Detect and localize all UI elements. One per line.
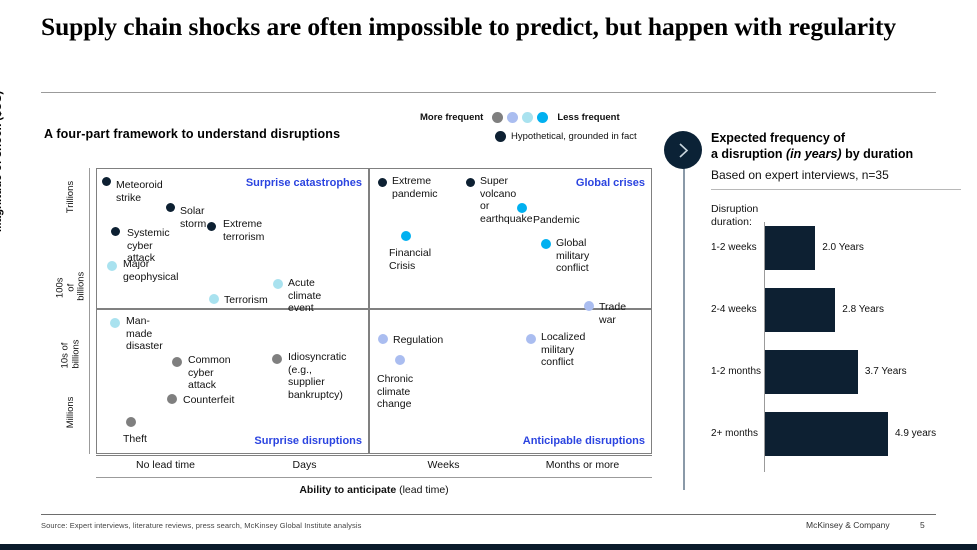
scatter-dot [102, 177, 111, 186]
legend-dot-blue [537, 112, 548, 123]
y-axis-line [89, 168, 90, 454]
scatter-point-label: Chronic climate change [377, 373, 413, 411]
scatter-point-label: Financial Crisis [389, 247, 431, 272]
scatter-dot [172, 357, 182, 367]
scatter-dot [209, 294, 219, 304]
scatter-dot [466, 178, 475, 187]
right-panel-subtitle: Based on expert interviews, n=35 [711, 168, 889, 182]
scatter-point-label: Global military conflict [556, 237, 589, 275]
bar-category-label: 2-4 weeks [711, 304, 757, 315]
matrix-vertical-divider [368, 169, 370, 453]
bar [765, 350, 858, 394]
right-title-line2b: (in years) [786, 147, 842, 161]
page-number: 5 [920, 520, 925, 530]
scatter-point-label: Common cyber attack [188, 354, 231, 392]
quadrant-label-anticipable-disruptions: Anticipable disruptions [523, 435, 645, 447]
framework-matrix: Surprise catastrophes Global crises Surp… [96, 168, 652, 454]
scatter-dot [584, 301, 594, 311]
scatter-point-label: Pandemic [533, 214, 580, 227]
scatter-point-label: Man-made disaster [126, 315, 163, 353]
bar-value-label: 2.0 Years [822, 242, 864, 253]
scatter-point-label: Extreme terrorism [223, 218, 264, 243]
scatter-dot [526, 334, 536, 344]
scatter-dot [110, 318, 120, 328]
bar-category-label: 1-2 months [711, 366, 761, 377]
scatter-point-label: Idiosyncratic (e.g., supplier bankruptcy… [288, 351, 346, 401]
bar [765, 412, 888, 456]
y-tier-tens-billions: 10s of billions [61, 343, 82, 369]
x-axis-line-bottom [96, 477, 652, 478]
y-tier-hundreds-billions: 100s of billions [55, 275, 87, 301]
footer-divider [41, 514, 936, 515]
y-tier-trillions: Trillions [66, 187, 77, 213]
bar-category-label: 1-2 weeks [711, 242, 757, 253]
scatter-point-label: Major geophysical [123, 258, 178, 283]
legend-dot-cyan [522, 112, 533, 123]
legend-hypothetical-label: Hypothetical, grounded in fact [511, 131, 637, 142]
right-title-line2c: by duration [842, 147, 914, 161]
bar-value-label: 3.7 Years [865, 366, 907, 377]
scatter-dot [395, 355, 405, 365]
source-note: Source: Expert interviews, literature re… [41, 521, 361, 530]
scatter-dot [107, 261, 117, 271]
right-title-line1: Expected frequency of [711, 131, 845, 145]
right-title-line2a: a disruption [711, 147, 786, 161]
x-tick-weeks: Weeks [374, 459, 513, 471]
slide: Supply chain shocks are often impossible… [0, 0, 977, 550]
legend-dot-gray [492, 112, 503, 123]
legend-dot-periwinkle [507, 112, 518, 123]
scatter-dot [126, 417, 136, 427]
duration-axis-label: Disruption duration: [711, 203, 758, 228]
bar-category-label: 2+ months [711, 428, 758, 439]
scatter-dot [166, 203, 175, 212]
x-tick-no-lead-time: No lead time [96, 459, 235, 471]
bar [765, 288, 835, 332]
x-axis-title-rest: (lead time) [396, 484, 449, 496]
scatter-dot [167, 394, 177, 404]
legend-color-scale [492, 112, 548, 123]
chevron-right-glyph [676, 142, 691, 159]
quadrant-label-surprise-disruptions: Surprise disruptions [254, 435, 362, 447]
scatter-dot [378, 178, 387, 187]
x-tick-months-or-more: Months or more [513, 459, 652, 471]
y-tier-millions: Millions [66, 402, 77, 428]
quadrant-label-global-crises: Global crises [576, 177, 645, 189]
quadrant-label-surprise-catastrophes: Surprise catastrophes [246, 177, 362, 189]
scatter-dot [401, 231, 411, 241]
brand-label: McKinsey & Company [806, 520, 890, 530]
framework-subtitle: A four-part framework to understand disr… [44, 127, 340, 141]
x-tick-days: Days [235, 459, 374, 471]
right-panel-title: Expected frequency of a disruption (in y… [711, 130, 961, 162]
y-axis-title: Magnitude of shock ($US) [0, 91, 4, 232]
right-panel-divider [711, 189, 961, 190]
x-axis-title-bold: Ability to anticipate [299, 484, 396, 496]
scatter-point-label: Theft [123, 433, 147, 446]
scatter-point-label: Super volcano or earthquake [480, 175, 533, 225]
bar [765, 226, 815, 270]
bar-value-label: 4.9 years [895, 428, 936, 439]
matrix-horizontal-divider [97, 308, 651, 310]
scatter-dot [272, 354, 282, 364]
scatter-dot [541, 239, 551, 249]
x-axis-line-top [96, 455, 652, 456]
title-divider [41, 92, 936, 93]
legend-more-frequent: More frequent [420, 112, 483, 123]
bar-value-label: 2.8 Years [842, 304, 884, 315]
scatter-point-label: Terrorism [224, 294, 268, 307]
scatter-dot [273, 279, 283, 289]
legend: More frequent Less frequent Hypothetical… [420, 112, 670, 142]
scatter-point-label: Counterfeit [183, 394, 234, 407]
panel-divider [683, 160, 685, 490]
legend-dot-hypothetical [495, 131, 506, 142]
chevron-right-icon [664, 131, 702, 169]
scatter-point-label: Trade war [599, 301, 626, 326]
page-title: Supply chain shocks are often impossible… [41, 12, 921, 42]
scatter-dot [517, 203, 527, 213]
legend-less-frequent: Less frequent [557, 112, 619, 123]
x-axis-title: Ability to anticipate (lead time) [96, 484, 652, 496]
scatter-dot [378, 334, 388, 344]
scatter-point-label: Regulation [393, 334, 443, 347]
scatter-point-label: Meteoroid strike [116, 179, 163, 204]
scatter-point-label: Localized military conflict [541, 331, 585, 369]
scatter-dot [111, 227, 120, 236]
scatter-point-label: Extreme pandemic [392, 175, 438, 200]
scatter-dot [207, 222, 216, 231]
scatter-point-label: Solar storm [180, 205, 206, 230]
scatter-point-label: Acute climate event [288, 277, 321, 315]
